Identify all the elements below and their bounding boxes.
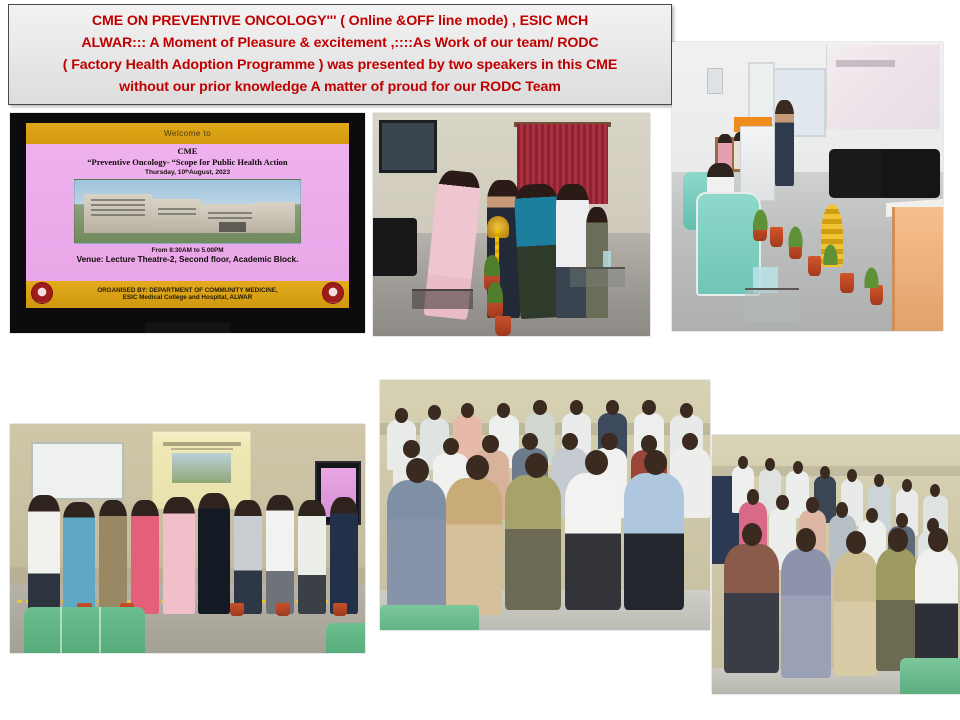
photo-4-scene [10, 424, 365, 653]
slide-body: CME “Preventive Oncology- “Scope for Pub… [26, 144, 349, 281]
projected-text [836, 60, 895, 67]
audience-head [742, 523, 762, 546]
slide-date: Thursday, 10ᵗʰAugust, 2023 [26, 169, 349, 176]
faculty-member [63, 502, 95, 614]
audience-head [846, 531, 866, 554]
green-plant [821, 239, 840, 265]
audience-head [680, 403, 693, 418]
faculty-member [99, 500, 127, 615]
audience-head [533, 400, 546, 415]
wooden-panel [892, 207, 943, 331]
cme-welcome-slide-photo[interactable]: Welcome to CME “Preventive Oncology- “Sc… [10, 113, 365, 333]
audience-member-front [446, 478, 502, 616]
projected-building-image [172, 453, 230, 483]
slide-canvas: CME ON PREVENTIVE ONCOLOGY''' ( Online &… [0, 0, 960, 720]
wall-frame [707, 68, 723, 94]
green-bench [380, 605, 479, 630]
green-plant [862, 262, 881, 288]
audience-member-front [505, 475, 561, 610]
group-photograph[interactable] [10, 424, 365, 653]
audience-head [644, 450, 667, 475]
tv-stand [145, 323, 230, 333]
faculty-member [163, 497, 195, 614]
audience-head [796, 528, 816, 551]
faculty-member [198, 493, 230, 614]
bench-divider [60, 607, 62, 653]
audience-head [820, 466, 830, 479]
person-in-white-shirt [556, 184, 589, 318]
bench-divider [99, 607, 101, 653]
potted-plant [495, 316, 512, 336]
green-plant [484, 276, 506, 303]
photo-5-scene [380, 380, 710, 630]
audience-head [406, 458, 429, 483]
audience-head [482, 435, 499, 453]
faculty-member [131, 500, 159, 615]
hospital-building-image [74, 179, 300, 244]
audience-head [525, 453, 548, 478]
projection-screen [826, 45, 940, 129]
audience-front-rows-photo[interactable] [380, 380, 710, 630]
green-bench-front [24, 607, 145, 653]
slide-event-label: CME [26, 146, 349, 156]
slide-title: “Preventive Oncology- “Scope for Public … [26, 157, 349, 167]
audience-member-front [387, 480, 446, 610]
audience-member-front [724, 544, 779, 674]
caption-box[interactable]: CME ON PREVENTIVE ONCOLOGY''' ( Online &… [8, 4, 672, 105]
black-sofa-right [881, 149, 941, 198]
glass-table-left [412, 289, 473, 309]
photo-6-scene [712, 435, 960, 694]
audience-head [585, 450, 608, 475]
audience-head [866, 508, 878, 524]
projected-title [163, 442, 241, 445]
audience-head [902, 479, 912, 492]
slide-organiser-line-1: ORGANISED BY: DEPARTMENT OF COMMUNITY ME… [97, 287, 278, 294]
photo-1-scene: Welcome to CME “Preventive Oncology- “Sc… [10, 113, 365, 333]
audience-head [747, 489, 759, 505]
water-bottle [603, 251, 611, 267]
audience-head [896, 513, 908, 529]
audience-head [570, 400, 583, 415]
audience-member-front [781, 549, 831, 679]
lamp-lighting-ceremony-photo[interactable] [373, 113, 650, 336]
slide-organiser-line-2: ESIC Medical College and Hospital, ALWAR [123, 294, 253, 301]
green-plant [481, 249, 503, 276]
white-board [31, 442, 123, 499]
glass-table [745, 288, 799, 323]
audience-head [428, 405, 441, 420]
audience-member-front [915, 549, 957, 668]
audience-member-front [624, 473, 683, 611]
tv-screen: Welcome to CME “Preventive Oncology- “Sc… [26, 123, 349, 308]
audience-head [642, 400, 655, 415]
audience-head [403, 440, 420, 458]
speaker-person [775, 100, 794, 187]
potted-plant [870, 285, 884, 305]
slide-welcome-band: Welcome to [26, 123, 349, 144]
potted-plant [808, 256, 822, 276]
audience-head [806, 497, 818, 513]
audience-head [395, 408, 408, 423]
audience-head [776, 495, 788, 511]
esic-logo-right-icon [322, 282, 344, 304]
potted-plant [276, 603, 290, 617]
audience-head [461, 403, 474, 418]
faculty-member [28, 495, 60, 614]
slide-timing: From 8:30AM to 5.00PM [26, 247, 349, 254]
caption-text: CME ON PREVENTIVE ONCOLOGY''' ( Online &… [63, 10, 617, 98]
faculty-member [266, 495, 294, 614]
speaker-at-podium-photo[interactable] [672, 42, 943, 331]
black-sofa [373, 218, 417, 276]
slide-organiser-band: ORGANISED BY: DEPARTMENT OF COMMUNITY ME… [26, 281, 349, 308]
projected-subtitle [171, 448, 233, 450]
potted-plant [333, 603, 347, 617]
audience-member-front [565, 473, 621, 611]
potted-plant [230, 603, 244, 617]
audience-head [497, 403, 510, 418]
audience-head [601, 433, 618, 451]
audience-head [888, 528, 908, 551]
slide-welcome-text: Welcome to [164, 129, 211, 138]
green-bench [900, 658, 960, 694]
audience-head [466, 455, 489, 480]
photo-2-scene [373, 113, 650, 336]
esic-logo-left-icon [31, 282, 53, 304]
faculty-member [298, 500, 326, 615]
faculty-member [234, 500, 262, 615]
audience-head [793, 461, 803, 474]
audience-head [562, 433, 579, 451]
wall-display [379, 120, 437, 174]
potted-plant [770, 227, 784, 247]
audience-head [738, 456, 748, 469]
slide-venue: Venue: Lecture Theatre-2, Second floor, … [26, 255, 349, 264]
podium [740, 126, 775, 201]
audience-member-front [834, 552, 879, 676]
audience-head [847, 469, 857, 482]
green-plant [751, 204, 770, 230]
potted-plant [840, 273, 854, 293]
audience-head [443, 438, 460, 456]
green-plant [786, 221, 805, 247]
black-sofa-left [829, 149, 889, 198]
green-bench-right [326, 623, 365, 653]
audience-member-front [876, 549, 918, 671]
audience-wide-photo[interactable] [712, 435, 960, 694]
glass-table-right [570, 267, 625, 287]
photo-3-scene [672, 42, 943, 331]
faculty-member [330, 497, 358, 614]
audience-head [928, 528, 948, 551]
